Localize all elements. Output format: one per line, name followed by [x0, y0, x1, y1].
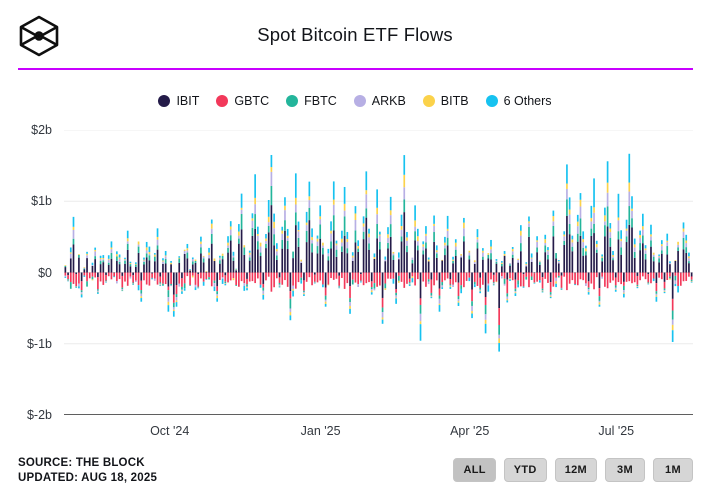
legend-item-bitb[interactable]: BITB — [423, 94, 469, 108]
bar-group[interactable] — [395, 273, 397, 304]
bar-group[interactable] — [311, 228, 313, 285]
bar-group[interactable] — [365, 171, 367, 283]
bar-group[interactable] — [536, 236, 538, 281]
bar-group[interactable] — [675, 260, 677, 286]
bar-group[interactable] — [330, 221, 332, 278]
bar-segment-gbtc — [146, 273, 148, 285]
bar-group[interactable] — [157, 228, 159, 284]
bar-group[interactable] — [498, 273, 500, 352]
bar-group[interactable] — [512, 247, 514, 280]
bar-group[interactable] — [479, 273, 481, 294]
bar-group[interactable] — [159, 273, 161, 287]
bar-group[interactable] — [317, 236, 319, 283]
bar-group[interactable] — [468, 251, 470, 281]
bar-group[interactable] — [146, 242, 148, 285]
bar-segment-arkb — [238, 236, 240, 239]
range-button-all[interactable]: ALL — [453, 458, 495, 482]
bar-group[interactable] — [650, 225, 652, 284]
bar-group[interactable] — [97, 273, 99, 294]
bar-group[interactable] — [547, 247, 549, 283]
bar-group[interactable] — [444, 237, 446, 280]
bar-segment-arkb — [609, 232, 611, 238]
bar-group[interactable] — [281, 227, 283, 285]
bar-group[interactable] — [268, 200, 270, 277]
bar-segment-bitb — [214, 258, 216, 261]
bar-group[interactable] — [224, 273, 226, 286]
bar-group[interactable] — [187, 244, 189, 276]
bar-segment-arkb — [176, 297, 178, 300]
bar-group[interactable] — [325, 273, 327, 307]
bar-group[interactable] — [452, 257, 454, 287]
bar-group[interactable] — [238, 224, 240, 287]
bar-group[interactable] — [214, 258, 216, 291]
bar-group[interactable] — [162, 258, 164, 285]
bar-group[interactable] — [262, 273, 264, 300]
bar-group[interactable] — [517, 259, 519, 288]
bar-group[interactable] — [599, 273, 601, 307]
bar-segment-fbtc — [566, 199, 568, 216]
bar-group[interactable] — [86, 252, 88, 287]
range-button-1m[interactable]: 1M — [653, 458, 693, 482]
bar-group[interactable] — [235, 269, 237, 286]
bar-group[interactable] — [132, 273, 134, 285]
bar-group[interactable] — [439, 273, 441, 312]
range-selector[interactable]: ALLYTD12M3M1M — [453, 458, 693, 482]
bar-group[interactable] — [601, 254, 603, 278]
bar-segment-arkb — [675, 280, 677, 284]
bar-group[interactable] — [666, 234, 668, 280]
bar-group[interactable] — [471, 273, 473, 319]
bar-group[interactable] — [127, 231, 129, 286]
bar-group[interactable] — [352, 252, 354, 284]
bar-segment-gbtc — [162, 273, 164, 284]
bar-group[interactable] — [287, 229, 289, 287]
bar-group[interactable] — [555, 253, 557, 287]
bar-group[interactable] — [561, 273, 563, 290]
range-button-3m[interactable]: 3M — [605, 458, 645, 482]
bar-group[interactable] — [102, 255, 104, 285]
bar-group[interactable] — [113, 273, 115, 278]
bar-segment-fbtc — [81, 290, 83, 292]
bar-group[interactable] — [609, 223, 611, 283]
bar-group[interactable] — [292, 252, 294, 297]
bar-group[interactable] — [67, 273, 69, 282]
bar-segment-fbtc — [428, 279, 430, 281]
bar-group[interactable] — [463, 218, 465, 287]
bar-group[interactable] — [539, 261, 541, 283]
bar-group[interactable] — [647, 273, 649, 285]
bar-group[interactable] — [322, 243, 324, 288]
bar-group[interactable] — [566, 164, 568, 290]
bar-group[interactable] — [580, 193, 582, 279]
bar-group[interactable] — [477, 229, 479, 286]
bar-group[interactable] — [417, 229, 419, 279]
bar-group[interactable] — [227, 236, 229, 282]
bar-segment-arkb — [376, 214, 378, 224]
bar-segment-bitb — [677, 242, 679, 245]
bar-group[interactable] — [344, 187, 346, 289]
bar-group[interactable] — [412, 258, 414, 283]
bar-group[interactable] — [620, 230, 622, 284]
bar-group[interactable] — [474, 260, 476, 287]
bar-group[interactable] — [233, 252, 235, 280]
bar-group[interactable] — [130, 262, 132, 279]
bar-group[interactable] — [574, 273, 576, 286]
bar-segment-arkb — [520, 236, 522, 244]
bar-group[interactable] — [81, 273, 83, 298]
bar-group[interactable] — [290, 273, 292, 321]
bar-group[interactable] — [360, 273, 362, 283]
bar-group[interactable] — [661, 240, 663, 279]
legend-item-arkb[interactable]: ARKB — [354, 94, 406, 108]
bar-group[interactable] — [206, 271, 208, 280]
bar-segment-gbtc — [314, 275, 316, 282]
bar-group[interactable] — [368, 229, 370, 282]
bar-group[interactable] — [295, 173, 297, 288]
bar-segment-gbtc — [485, 297, 487, 305]
bar-group[interactable] — [447, 216, 449, 279]
bar-group[interactable] — [664, 273, 666, 294]
bar-group[interactable] — [398, 252, 400, 282]
bar-group[interactable] — [525, 262, 527, 279]
bar-group[interactable] — [482, 248, 484, 285]
bar-group[interactable] — [189, 269, 191, 285]
bar-group[interactable] — [89, 273, 91, 279]
bar-group[interactable] — [230, 221, 232, 280]
bar-group[interactable] — [582, 231, 584, 280]
bar-group[interactable] — [121, 273, 123, 292]
bar-group[interactable] — [355, 206, 357, 282]
bar-group[interactable] — [208, 248, 210, 280]
bar-group[interactable] — [563, 231, 565, 276]
bar-group[interactable] — [303, 273, 305, 297]
bar-segment-arkb — [173, 307, 175, 309]
bar-group[interactable] — [336, 241, 338, 279]
bar-group[interactable] — [184, 250, 186, 291]
bar-group[interactable] — [653, 253, 655, 281]
bar-segment-bitb — [580, 200, 582, 207]
bar-group[interactable] — [70, 248, 72, 289]
bar-group[interactable] — [558, 260, 560, 277]
bar-segment-fbtc — [330, 241, 332, 248]
bar-group[interactable] — [154, 253, 156, 281]
bar-group[interactable] — [306, 212, 308, 282]
bar-segment-arkb — [73, 230, 75, 239]
legend-item-6-others[interactable]: 6 Others — [486, 94, 552, 108]
bar-group[interactable] — [623, 273, 625, 298]
bar-group[interactable] — [642, 214, 644, 277]
bar-group[interactable] — [105, 273, 107, 283]
bar-group[interactable] — [615, 273, 617, 292]
bar-group[interactable] — [523, 273, 525, 288]
bar-group[interactable] — [309, 182, 311, 278]
bar-group[interactable] — [176, 273, 178, 307]
bar-group[interactable] — [504, 251, 506, 286]
bar-group[interactable] — [639, 231, 641, 281]
bar-segment-6-others — [352, 252, 354, 255]
bar-segment-bitb — [138, 242, 140, 245]
bar-group[interactable] — [273, 214, 275, 288]
bar-segment-gbtc — [235, 273, 237, 285]
bar-group[interactable] — [94, 248, 96, 278]
bar-group[interactable] — [254, 174, 256, 283]
bar-group[interactable] — [200, 237, 202, 279]
bar-segment-6-others — [450, 287, 452, 289]
bar-segment-6-others — [346, 232, 348, 239]
bar-group[interactable] — [346, 232, 348, 283]
bar-segment-gbtc — [344, 273, 346, 289]
bar-group[interactable] — [628, 154, 630, 281]
bar-group[interactable] — [349, 273, 351, 314]
bar-group[interactable] — [618, 194, 620, 282]
bar-group[interactable] — [485, 273, 487, 334]
bar-segment-bitb — [471, 311, 473, 313]
bar-group[interactable] — [493, 273, 495, 286]
bar-group[interactable] — [357, 240, 359, 287]
bar-group[interactable] — [92, 263, 94, 281]
bar-group[interactable] — [279, 273, 281, 288]
bar-group[interactable] — [149, 247, 151, 286]
bar-group[interactable] — [458, 273, 460, 306]
bar-segment-arkb — [208, 255, 210, 258]
bar-group[interactable] — [222, 254, 224, 284]
bar-segment-bitb — [444, 243, 446, 246]
bar-group[interactable] — [645, 245, 647, 279]
bar-group[interactable] — [111, 241, 113, 279]
bar-group[interactable] — [683, 222, 685, 281]
bar-group[interactable] — [496, 259, 498, 282]
bar-group[interactable] — [677, 242, 679, 293]
bar-group[interactable] — [140, 273, 142, 302]
bar-group[interactable] — [509, 263, 511, 281]
bar-group[interactable] — [124, 258, 126, 282]
bar-group[interactable] — [197, 273, 199, 289]
bar-segment-6-others — [355, 206, 357, 213]
bar-group[interactable] — [73, 217, 75, 284]
bar-group[interactable] — [363, 216, 365, 285]
bar-segment-gbtc — [349, 286, 351, 298]
bar-group[interactable] — [422, 241, 424, 281]
bar-segment-bitb — [363, 223, 365, 226]
bar-group[interactable] — [333, 181, 335, 279]
bar-group[interactable] — [414, 205, 416, 285]
bar-group[interactable] — [384, 257, 386, 290]
bar-group[interactable] — [135, 262, 137, 282]
legend-item-ibit[interactable]: IBIT — [158, 94, 199, 108]
bar-group[interactable] — [195, 260, 197, 291]
bar-group[interactable] — [656, 273, 658, 302]
bar-segment-fbtc — [669, 277, 671, 279]
bar-group[interactable] — [271, 155, 273, 292]
bar-group[interactable] — [612, 251, 614, 280]
bar-group[interactable] — [425, 226, 427, 287]
bar-group[interactable] — [265, 234, 267, 280]
bar-group[interactable] — [401, 215, 403, 282]
bar-group[interactable] — [428, 258, 430, 285]
bar-group[interactable] — [506, 273, 508, 303]
bar-group[interactable] — [550, 273, 552, 299]
bar-group[interactable] — [572, 236, 574, 280]
bar-group[interactable] — [658, 255, 660, 278]
bar-segment-ibit — [276, 260, 278, 273]
bar-group[interactable] — [173, 273, 175, 317]
bar-group[interactable] — [219, 256, 221, 280]
bar-group[interactable] — [520, 225, 522, 286]
bar-group[interactable] — [542, 273, 544, 293]
bar-group[interactable] — [691, 273, 693, 283]
bar-group[interactable] — [319, 205, 321, 280]
bar-group[interactable] — [108, 255, 110, 276]
bar-group[interactable] — [284, 197, 286, 280]
legend-item-fbtc[interactable]: FBTC — [286, 94, 337, 108]
bar-group[interactable] — [528, 216, 530, 287]
bar-group[interactable] — [433, 216, 435, 286]
bar-group[interactable] — [466, 273, 468, 281]
bar-group[interactable] — [376, 189, 378, 286]
bar-group[interactable] — [298, 222, 300, 283]
bar-segment-arkb — [607, 193, 609, 207]
bar-segment-fbtc — [487, 255, 489, 259]
bar-group[interactable] — [181, 273, 183, 294]
bar-group[interactable] — [626, 220, 628, 282]
bar-group[interactable] — [252, 213, 254, 281]
bar-group[interactable] — [216, 273, 218, 302]
bar-segment-arkb — [509, 263, 511, 264]
bar-group[interactable] — [487, 253, 489, 292]
bar-group[interactable] — [65, 265, 67, 278]
bar-group[interactable] — [165, 251, 167, 284]
bar-segment-arkb — [474, 262, 476, 264]
bar-group[interactable] — [585, 246, 587, 286]
bar-group[interactable] — [276, 243, 278, 278]
bar-group[interactable] — [501, 261, 503, 278]
bar-group[interactable] — [119, 255, 121, 280]
bar-segment-6-others — [431, 297, 433, 298]
legend-label: IBIT — [176, 94, 199, 108]
bar-group[interactable] — [569, 197, 571, 283]
bar-group[interactable] — [260, 243, 262, 288]
bar-group[interactable] — [170, 261, 172, 286]
bar-group[interactable] — [83, 267, 85, 277]
bar-segment-bitb — [238, 232, 240, 236]
bar-group[interactable] — [593, 178, 595, 289]
bar-group[interactable] — [531, 253, 533, 280]
bar-group[interactable] — [436, 245, 438, 280]
legend-item-gbtc[interactable]: GBTC — [216, 94, 269, 108]
bar-segment-arkb — [357, 284, 359, 287]
bar-segment-gbtc — [346, 273, 348, 284]
range-button-ytd[interactable]: YTD — [504, 458, 547, 482]
bar-group[interactable] — [515, 273, 517, 297]
bar-group[interactable] — [403, 155, 405, 288]
bar-group[interactable] — [669, 261, 671, 279]
bar-segment-fbtc — [298, 238, 300, 247]
bar-segment-bitb — [268, 217, 270, 222]
bar-group[interactable] — [328, 249, 330, 285]
bar-group[interactable] — [406, 232, 408, 284]
bar-group[interactable] — [382, 273, 384, 324]
bar-group[interactable] — [441, 260, 443, 289]
bar-group[interactable] — [450, 273, 452, 289]
bar-group[interactable] — [590, 206, 592, 284]
bar-group[interactable] — [203, 256, 205, 286]
bar-group[interactable] — [455, 239, 457, 282]
bar-group[interactable] — [78, 254, 80, 288]
bar-segment-arkb — [203, 257, 205, 259]
bar-group[interactable] — [100, 256, 102, 282]
bar-group[interactable] — [672, 273, 674, 342]
bar-group[interactable] — [300, 260, 302, 284]
bar-group[interactable] — [243, 245, 245, 291]
bar-group[interactable] — [178, 256, 180, 286]
bar-segment-bitb — [572, 239, 574, 242]
bar-group[interactable] — [211, 220, 213, 287]
bar-group[interactable] — [685, 235, 687, 281]
bar-group[interactable] — [75, 273, 77, 288]
bar-group[interactable] — [577, 215, 579, 285]
bar-group[interactable] — [460, 254, 462, 293]
bar-group[interactable] — [192, 257, 194, 277]
range-button-12m[interactable]: 12M — [555, 458, 597, 482]
bar-group[interactable] — [688, 253, 690, 277]
bar-group[interactable] — [596, 241, 598, 277]
bar-group[interactable] — [374, 253, 376, 290]
bar-group[interactable] — [637, 273, 639, 289]
bar-group[interactable] — [249, 251, 251, 282]
bar-group[interactable] — [431, 273, 433, 299]
bar-group[interactable] — [257, 227, 259, 279]
bar-group[interactable] — [151, 273, 153, 280]
bar-group[interactable] — [387, 227, 389, 278]
bar-group[interactable] — [241, 194, 243, 281]
bar-group[interactable] — [116, 251, 118, 283]
bar-segment-gbtc — [417, 273, 419, 280]
bar-segment-6-others — [498, 343, 500, 352]
bar-group[interactable] — [553, 211, 555, 287]
bar-group[interactable] — [490, 240, 492, 279]
bar-segment-bitb — [265, 238, 267, 241]
bar-group[interactable] — [680, 273, 682, 286]
bar-group[interactable] — [338, 273, 340, 289]
bar-segment-fbtc — [143, 262, 145, 265]
bar-group[interactable] — [390, 197, 392, 279]
bar-segment-6-others — [482, 248, 484, 251]
bar-group[interactable] — [246, 273, 248, 291]
bar-group[interactable] — [588, 273, 590, 295]
legend-swatch-icon — [216, 95, 228, 107]
bar-segment-gbtc — [357, 273, 359, 285]
bar-group[interactable] — [420, 273, 422, 341]
bar-group[interactable] — [607, 161, 609, 288]
bar-group[interactable] — [138, 242, 140, 291]
bar-group[interactable] — [544, 235, 546, 279]
bar-segment-gbtc — [352, 273, 354, 280]
bar-group[interactable] — [634, 239, 636, 283]
bar-group[interactable] — [604, 208, 606, 287]
bar-group[interactable] — [371, 273, 373, 295]
bar-group[interactable] — [314, 273, 316, 284]
bar-segment-fbtc — [628, 206, 630, 225]
bar-group[interactable] — [393, 252, 395, 284]
bar-segment-ibit — [230, 241, 232, 273]
bar-group[interactable] — [341, 231, 343, 278]
bar-group[interactable] — [143, 258, 145, 281]
bar-group[interactable] — [631, 196, 633, 283]
bar-group[interactable] — [168, 273, 170, 312]
bar-group[interactable] — [379, 232, 381, 286]
bar-group[interactable] — [534, 273, 536, 284]
bar-group[interactable] — [409, 273, 411, 287]
